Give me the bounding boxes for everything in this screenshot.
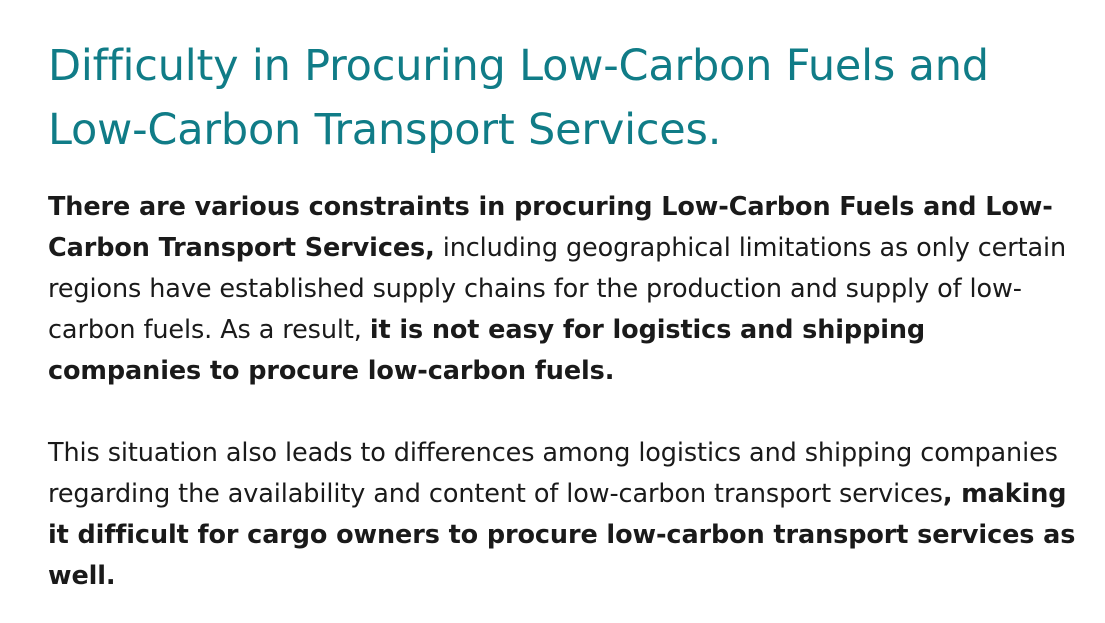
slide-root: Difficulty in Procuring Low-Carbon Fuels… [0,0,1105,623]
text-run-regular: This situation also leads to differences… [48,438,1058,509]
paragraph-1: There are various constraints in procuri… [48,187,1080,392]
body-text-block: There are various constraints in procuri… [48,187,1080,597]
slide-content: Difficulty in Procuring Low-Carbon Fuels… [48,34,1080,597]
paragraph-2: This situation also leads to differences… [48,433,1080,597]
page-title: Difficulty in Procuring Low-Carbon Fuels… [48,34,1080,162]
